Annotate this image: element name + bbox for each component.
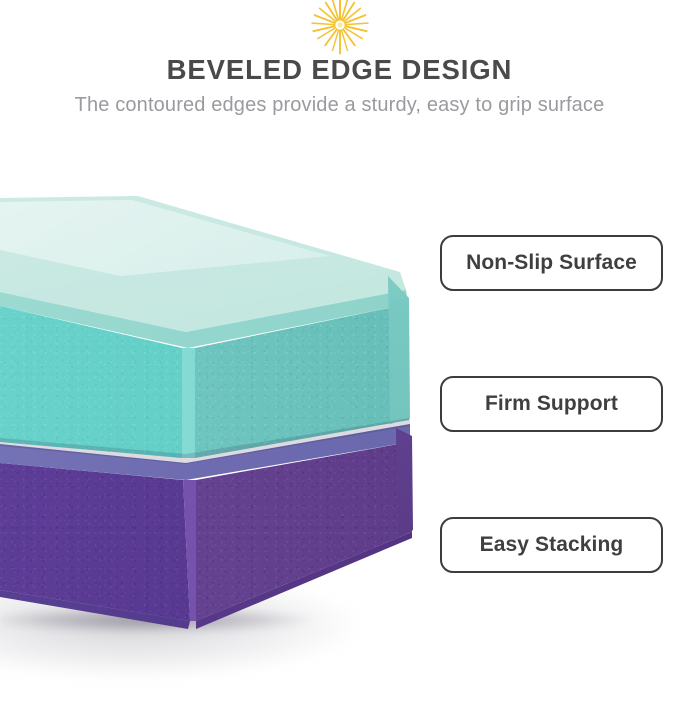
callout-non-slip-surface[interactable]: Non-Slip Surface xyxy=(440,235,663,291)
sunburst-icon xyxy=(309,0,371,46)
callout-label: Easy Stacking xyxy=(480,533,624,557)
callout-label: Firm Support xyxy=(485,392,618,416)
callout-easy-stacking[interactable]: Easy Stacking xyxy=(440,517,663,573)
callout-firm-support[interactable]: Firm Support xyxy=(440,376,663,432)
callout-label: Non-Slip Surface xyxy=(466,251,637,275)
product-feature-graphic: BEVELED EDGE DESIGN The contoured edges … xyxy=(0,0,679,701)
page-title: BEVELED EDGE DESIGN xyxy=(0,56,679,85)
page-subtitle: The contoured edges provide a sturdy, ea… xyxy=(0,93,679,117)
product-image-yoga-block xyxy=(0,180,430,640)
